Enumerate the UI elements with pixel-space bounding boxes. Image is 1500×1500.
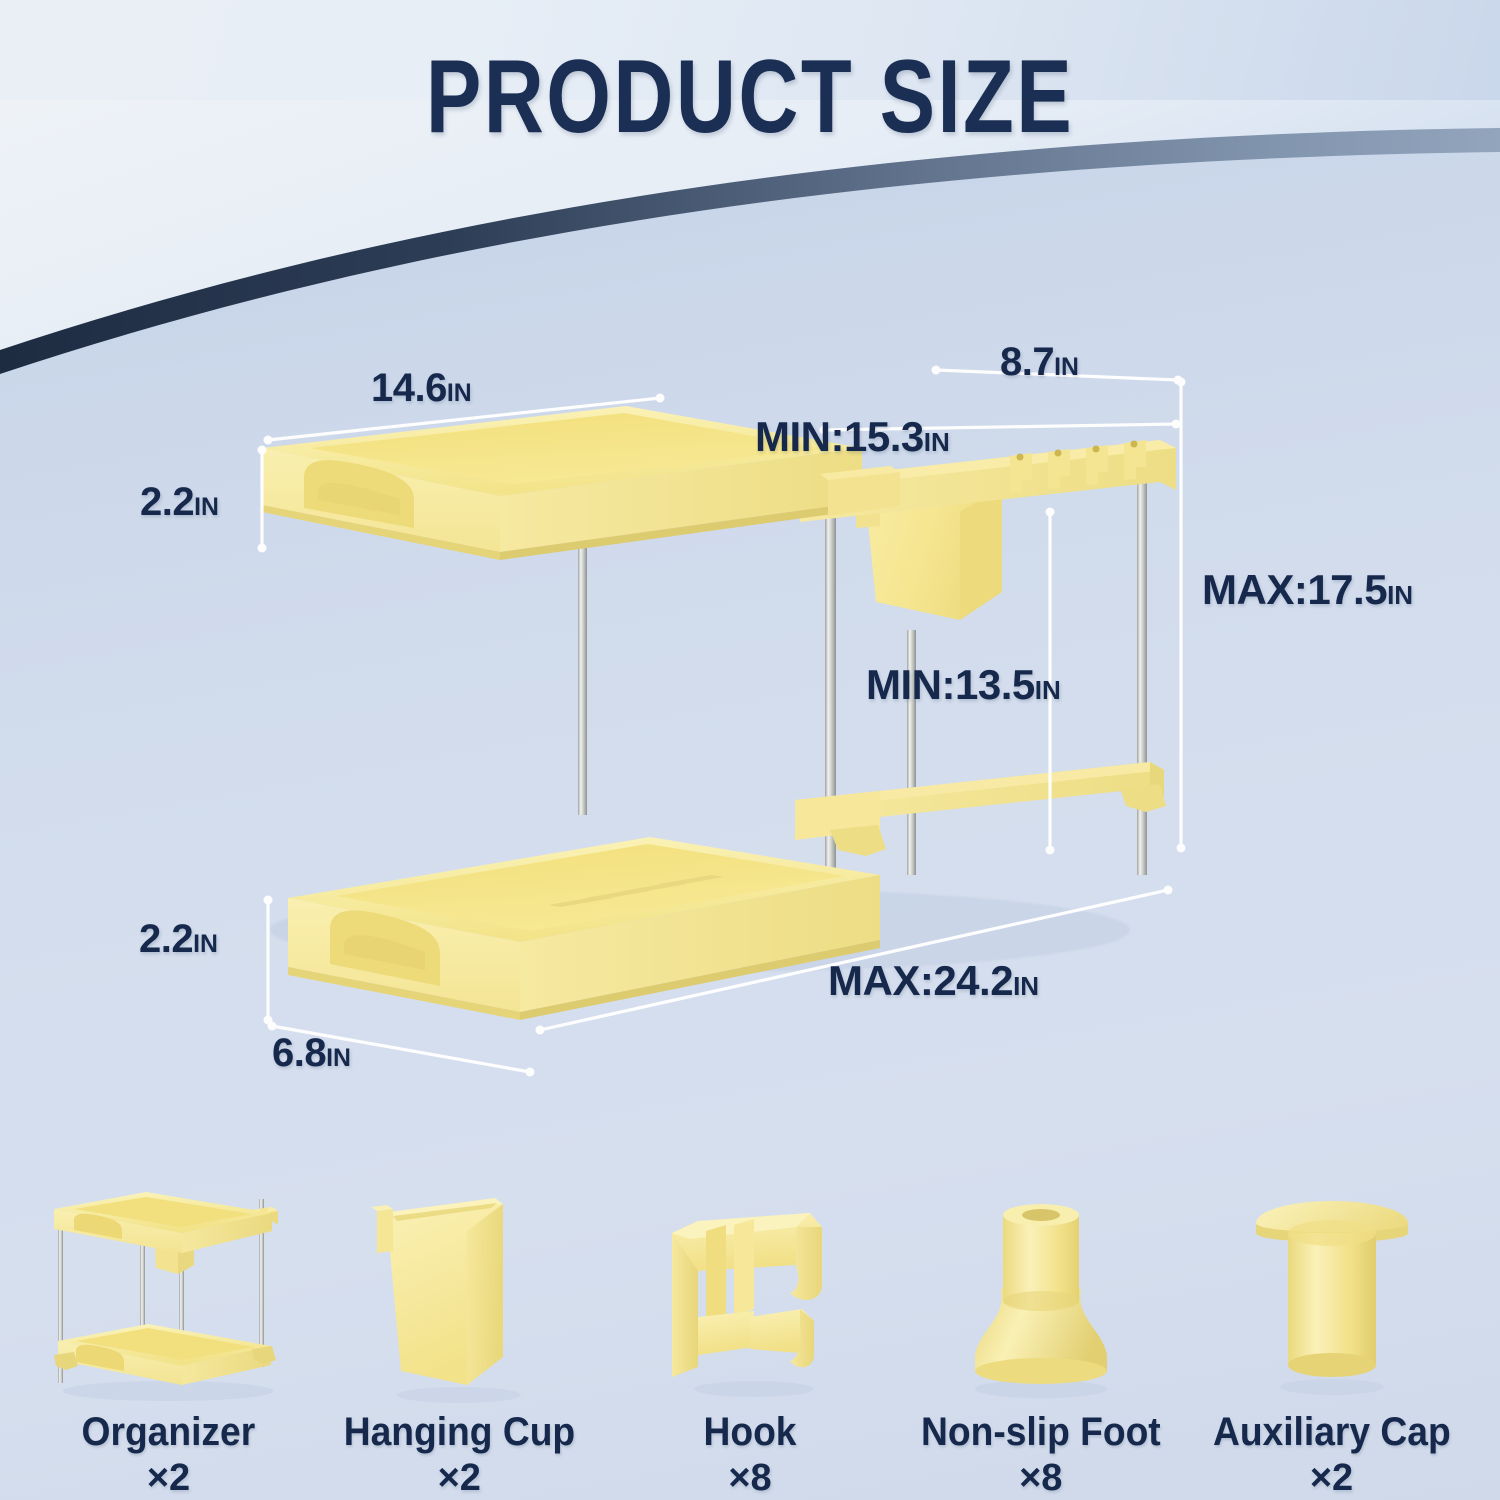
dimension-label-rail-depth: 8.7IN bbox=[1000, 340, 1079, 385]
part-label-hanging-cup: Hanging Cup bbox=[344, 1412, 575, 1453]
hanging-cup-icon bbox=[359, 1169, 559, 1404]
dimension-label-top-shelf-height: 2.2IN bbox=[140, 480, 219, 525]
part-qty-non-slip-foot: ×8 bbox=[1019, 1457, 1062, 1500]
dimension-label-min-width: MIN:15.3IN bbox=[755, 413, 950, 461]
dimension-label-min-height: MIN:13.5IN bbox=[866, 661, 1061, 709]
two-tier-organizer-icon bbox=[36, 1169, 301, 1404]
part-label-auxiliary-cap: Auxiliary Cap bbox=[1213, 1412, 1451, 1453]
bottom-shelf-tray bbox=[288, 837, 880, 1020]
part-qty-hook: ×8 bbox=[728, 1457, 771, 1500]
part-label-non-slip-foot: Non-slip Foot bbox=[921, 1412, 1161, 1453]
dimension-label-top-shelf-width: 14.6IN bbox=[371, 366, 472, 411]
non-slip-foot-icon bbox=[941, 1169, 1141, 1404]
part-item-non-slip-foot: Non-slip Foot ×8 bbox=[898, 1169, 1183, 1500]
part-item-organizer: Organizer ×2 bbox=[26, 1169, 311, 1500]
product-illustration bbox=[0, 330, 1500, 1120]
dimension-label-max-width: MAX:24.2IN bbox=[828, 957, 1039, 1005]
organizer-bottom-tray bbox=[54, 1324, 276, 1385]
part-label-hook: Hook bbox=[704, 1412, 797, 1453]
hook-icon bbox=[650, 1169, 850, 1404]
part-qty-auxiliary-cap: ×2 bbox=[1310, 1457, 1353, 1500]
part-item-hook: Hook ×8 bbox=[608, 1169, 893, 1500]
part-item-hanging-cup: Hanging Cup ×2 bbox=[317, 1169, 602, 1500]
part-item-auxiliary-cap: Auxiliary Cap ×2 bbox=[1189, 1169, 1474, 1500]
dimension-label-bottom-shelf-height: 2.2IN bbox=[139, 917, 218, 962]
organizer-top-tray bbox=[54, 1192, 272, 1253]
dimension-label-bottom-shelf-depth: 6.8IN bbox=[272, 1031, 351, 1076]
parts-list: Organizer ×2 bbox=[0, 1120, 1500, 1500]
part-label-organizer: Organizer bbox=[82, 1412, 256, 1453]
part-qty-organizer: ×2 bbox=[147, 1457, 190, 1500]
part-qty-hanging-cup: ×2 bbox=[438, 1457, 481, 1500]
auxiliary-cap-icon bbox=[1232, 1169, 1432, 1404]
dimension-label-max-height: MAX:17.5IN bbox=[1202, 566, 1413, 614]
page-title: PRODUCT SIZE bbox=[150, 38, 1350, 157]
